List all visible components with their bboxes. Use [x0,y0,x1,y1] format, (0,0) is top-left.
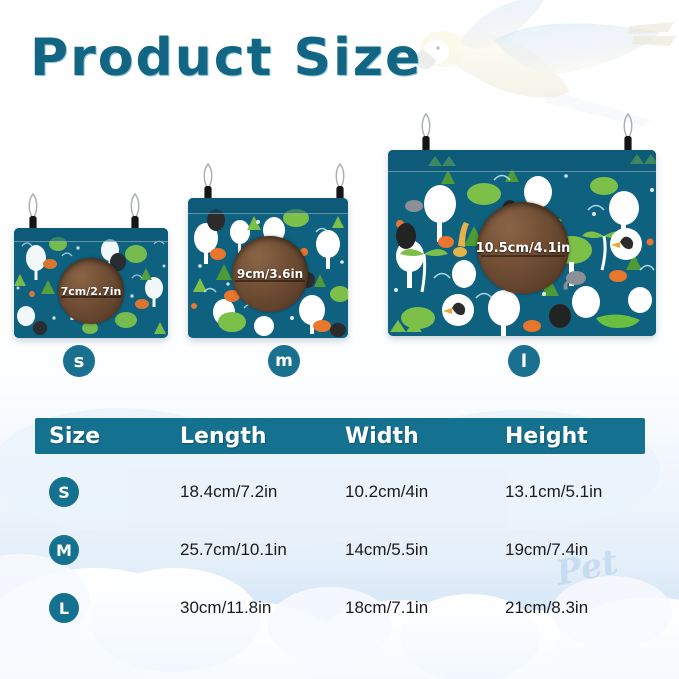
table-row: S 18.4cm/7.2in 10.2cm/4in 13.1cm/5.1in [35,468,645,516]
opening-medium: 9cm/3.6in [232,236,308,312]
row-length-cell: 25.7cm/10.1in [180,540,345,560]
size-badge-m-label: m [275,351,293,371]
opening-label-large: 10.5cm/4.1in [476,241,571,256]
column-header-size: Size [35,424,180,449]
row-size-cell: L [35,593,180,623]
pet-bag-medium: 9cm/3.6in [188,198,348,338]
opening-large: 10.5cm/4.1in [477,202,569,294]
table-row: L 30cm/11.8in 18cm/7.1in 21cm/8.3in [35,584,645,632]
pet-bag-large: 10.5cm/4.1in [388,150,656,336]
column-header-height: Height [505,424,645,449]
row-size-badge: S [49,477,79,507]
size-badge-l-label: l [521,351,527,372]
size-table: Size Length Width Height S 18.4cm/7.2in … [35,418,645,632]
size-badge-m: m [268,345,300,377]
row-size-badge: M [49,535,79,565]
table-header-row: Size Length Width Height [35,418,645,454]
row-size-badge-label: L [59,599,69,618]
row-height-cell: 13.1cm/5.1in [505,482,645,502]
opening-small: 7cm/2.7in [58,258,124,324]
row-size-cell: M [35,535,180,565]
row-length-cell: 30cm/11.8in [180,598,345,618]
parrot-icon [398,0,679,134]
row-size-badge-label: S [58,483,70,502]
column-header-length: Length [180,424,345,449]
row-width-cell: 18cm/7.1in [345,598,505,618]
page-title: Product Size [30,28,422,88]
row-width-cell: 10.2cm/4in [345,482,505,502]
row-length-cell: 18.4cm/7.2in [180,482,345,502]
row-size-badge-label: M [56,541,72,560]
column-header-width: Width [345,424,505,449]
row-size-cell: S [35,477,180,507]
row-size-badge: L [49,593,79,623]
row-height-cell: 21cm/8.3in [505,598,645,618]
table-row: M 25.7cm/10.1in 14cm/5.5in 19cm/7.4in [35,526,645,574]
row-width-cell: 14cm/5.5in [345,540,505,560]
opening-label-medium: 9cm/3.6in [237,267,303,281]
row-height-cell: 19cm/7.4in [505,540,645,560]
size-badge-s-label: s [74,351,85,372]
opening-label-small: 7cm/2.7in [61,285,122,298]
infographic-page: Product Size [0,0,679,679]
size-badge-s: s [63,345,95,377]
pet-bag-small: 7cm/2.7in [14,228,168,338]
size-badge-l: l [508,345,540,377]
